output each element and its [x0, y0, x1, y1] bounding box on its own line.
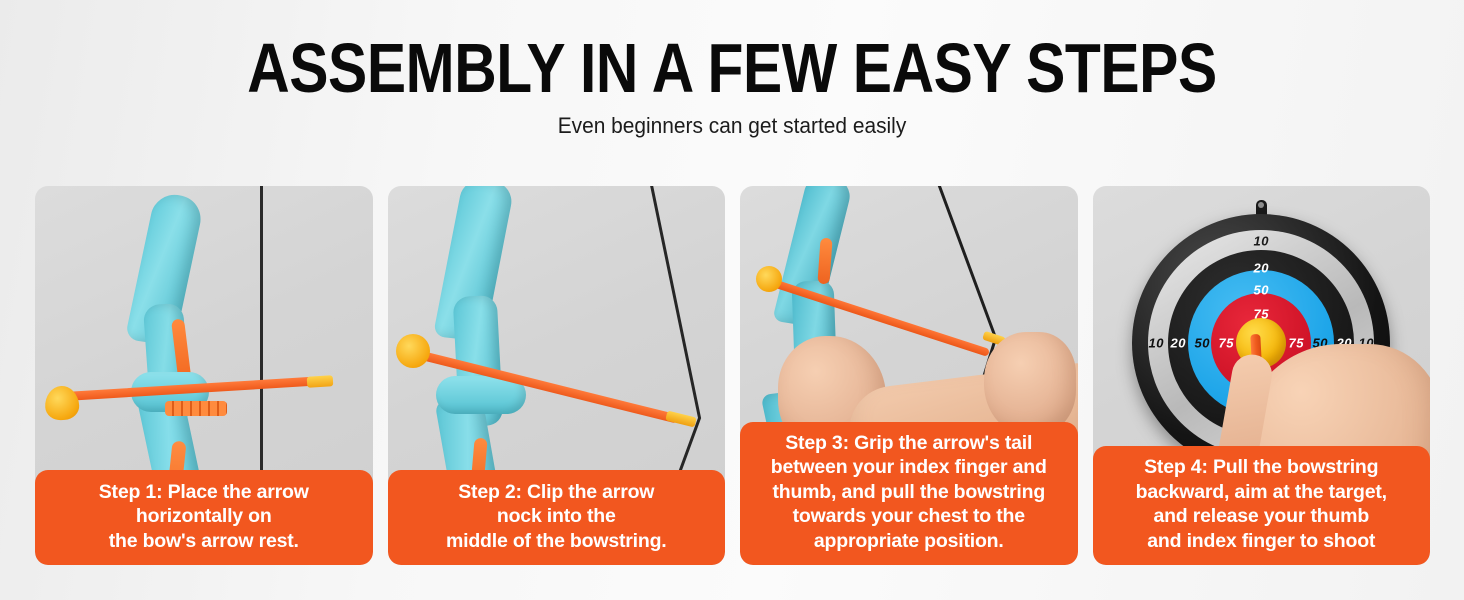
step-card-4: 10 20 50 75 10 20 50 75 75 50 20 10	[1093, 186, 1431, 565]
target-score-top-20: 20	[1254, 262, 1269, 275]
step-2-caption: Step 2: Clip the arrow nock into the mid…	[388, 470, 726, 566]
target-score-left-75: 75	[1219, 337, 1234, 350]
target-score-left-10: 10	[1149, 337, 1164, 350]
target-score-left-50: 50	[1195, 337, 1210, 350]
step-4-caption: Step 4: Pull the bowstring backward, aim…	[1093, 446, 1431, 565]
arrow-rest-ridges	[165, 401, 227, 416]
step-1-caption: Step 1: Place the arrow horizontally on …	[35, 470, 373, 566]
target-score-top-10: 10	[1254, 235, 1269, 248]
target-score-left-20: 20	[1171, 337, 1186, 350]
arrow-suction-cup	[396, 334, 430, 368]
target-score-top-75: 75	[1254, 308, 1269, 321]
page-subtitle: Even beginners can get started easily	[37, 113, 1428, 139]
page-title: ASSEMBLY IN A FEW EASY STEPS	[117, 33, 1347, 103]
draw-hand	[984, 332, 1076, 436]
arrow-nock-yellow	[307, 375, 334, 388]
target-score-right-75: 75	[1289, 337, 1304, 350]
bowstring	[260, 186, 263, 486]
steps-container: Step 1: Place the arrow horizontally on …	[35, 186, 1430, 565]
step-card-1: Step 1: Place the arrow horizontally on …	[35, 186, 373, 565]
arrow-suction-cup	[756, 266, 782, 292]
step-card-2: Step 2: Clip the arrow nock into the mid…	[388, 186, 726, 565]
step-3-caption: Step 3: Grip the arrow's tail between yo…	[740, 422, 1078, 566]
target-score-top-50: 50	[1254, 284, 1269, 297]
step-card-3: Step 3: Grip the arrow's tail between yo…	[740, 186, 1078, 565]
assembly-infographic: ASSEMBLY IN A FEW EASY STEPS Even beginn…	[0, 0, 1464, 600]
header: ASSEMBLY IN A FEW EASY STEPS Even beginn…	[0, 0, 1464, 139]
